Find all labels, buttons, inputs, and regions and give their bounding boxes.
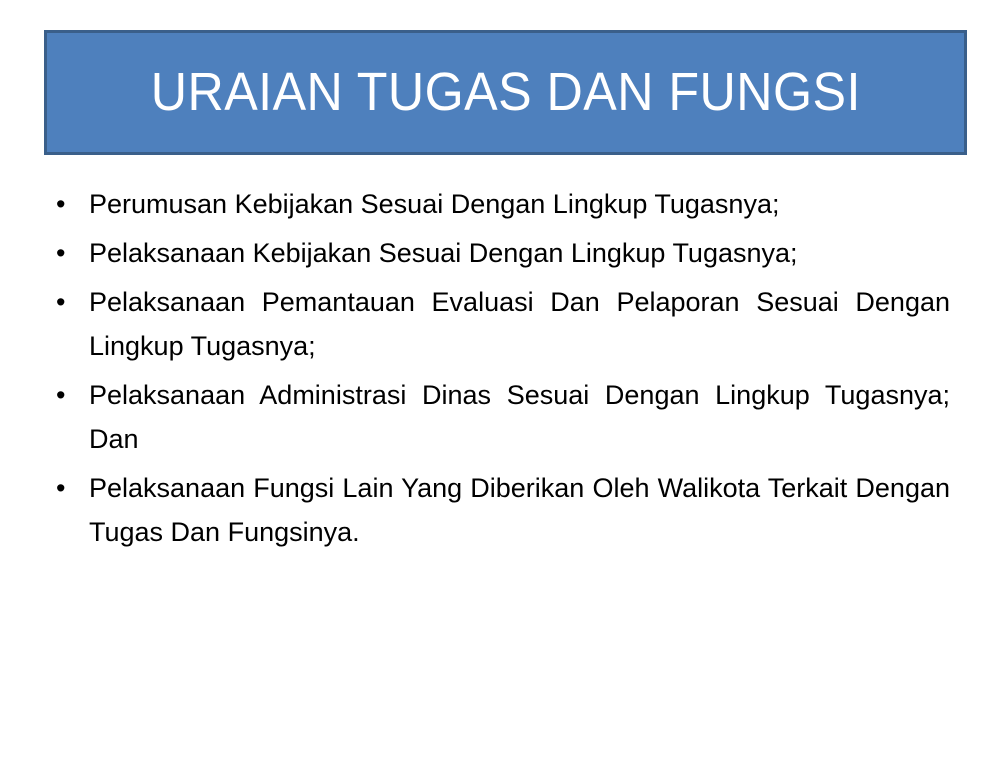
list-item: • Pelaksanaan Pemantauan Evaluasi Dan Pe… <box>52 280 950 368</box>
bullet-point-icon: • <box>56 280 76 324</box>
list-item-text: Perumusan Kebijakan Sesuai Dengan Lingku… <box>89 182 950 226</box>
list-item: • Perumusan Kebijakan Sesuai Dengan Ling… <box>52 182 950 226</box>
slide-canvas: URAIAN TUGAS DAN FUNGSI • Perumusan Kebi… <box>0 0 1007 757</box>
bullet-point-icon: • <box>56 373 76 417</box>
list-item-text: Pelaksanaan Fungsi Lain Yang Diberikan O… <box>89 466 950 554</box>
list-item-text: Pelaksanaan Pemantauan Evaluasi Dan Pela… <box>89 280 950 368</box>
page-title: URAIAN TUGAS DAN FUNGSI <box>150 64 860 121</box>
list-item-text: Pelaksanaan Kebijakan Sesuai Dengan Ling… <box>89 231 950 275</box>
list-item-text: Pelaksanaan Administrasi Dinas Sesuai De… <box>89 373 950 461</box>
bullet-point-icon: • <box>56 466 76 510</box>
list-item: • Pelaksanaan Administrasi Dinas Sesuai … <box>52 373 950 461</box>
bullet-list: • Perumusan Kebijakan Sesuai Dengan Ling… <box>52 182 952 559</box>
title-banner: URAIAN TUGAS DAN FUNGSI <box>44 30 967 155</box>
list-item: • Pelaksanaan Fungsi Lain Yang Diberikan… <box>52 466 950 554</box>
bullet-point-icon: • <box>56 182 76 226</box>
list-item: • Pelaksanaan Kebijakan Sesuai Dengan Li… <box>52 231 950 275</box>
bullet-point-icon: • <box>56 231 76 275</box>
